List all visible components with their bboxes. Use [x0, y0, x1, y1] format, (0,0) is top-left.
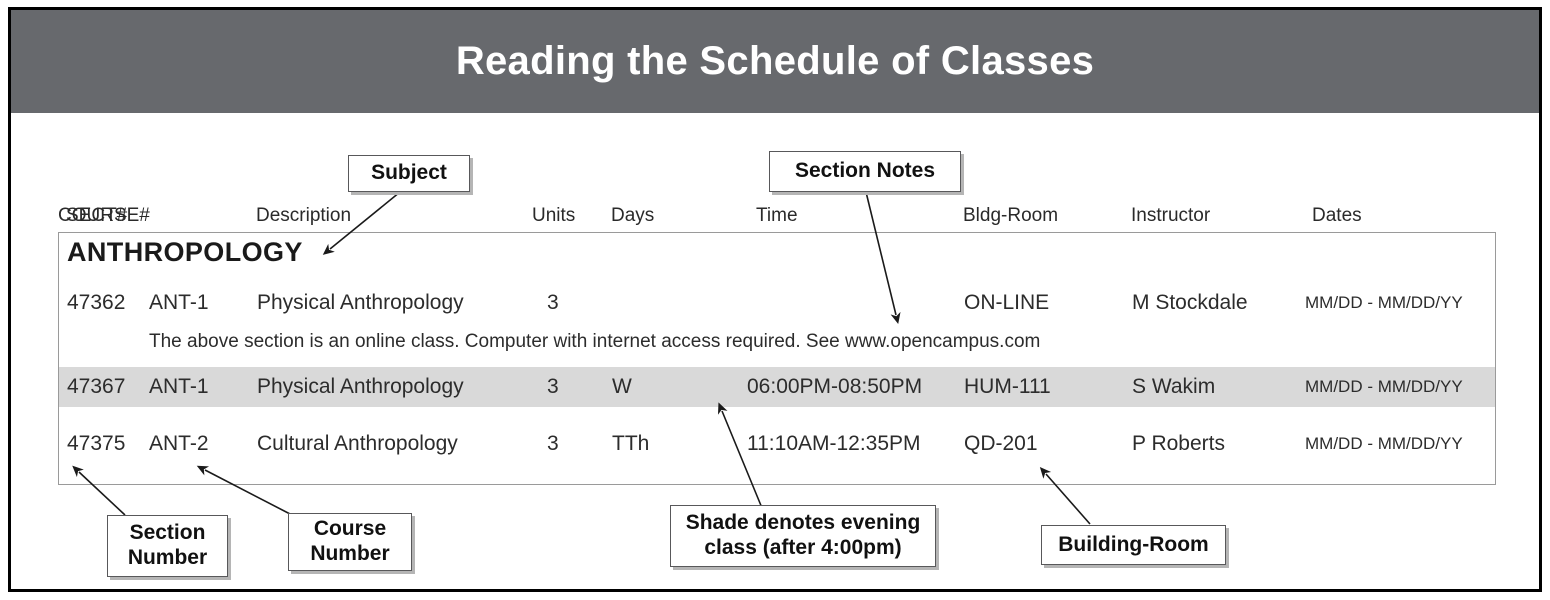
cell-dates: MM/DD - MM/DD/YY	[1305, 367, 1463, 407]
cell-days: TTh	[612, 424, 649, 464]
page-title: Reading the Schedule of Classes	[456, 39, 1094, 84]
schedule-infographic: Reading the Schedule of Classes SECT# CO…	[0, 0, 1550, 600]
schedule-table: ANTHROPOLOGY 47362 ANT-1 Physical Anthro…	[58, 232, 1496, 485]
subject-heading: ANTHROPOLOGY	[67, 237, 303, 268]
section-note-row: The above section is an online class. Co…	[59, 325, 1495, 359]
table-row: 47367 ANT-1 Physical Anthropology 3 W 06…	[59, 367, 1495, 407]
column-header-bldg-room: Bldg-Room	[963, 205, 1058, 227]
table-row: 47375 ANT-2 Cultural Anthropology 3 TTh …	[59, 424, 1495, 464]
cell-instructor: S Wakim	[1132, 367, 1215, 407]
cell-course: ANT-2	[149, 424, 209, 464]
column-header-course: COURSE#	[58, 205, 150, 227]
cell-units: 3	[547, 367, 559, 407]
cell-instructor: M Stockdale	[1132, 283, 1248, 323]
cell-course: ANT-1	[149, 283, 209, 323]
cell-time: 06:00PM-08:50PM	[747, 367, 922, 407]
cell-dates: MM/DD - MM/DD/YY	[1305, 424, 1463, 464]
callout-building-room: Building-Room	[1041, 525, 1226, 565]
table-row: 47362 ANT-1 Physical Anthropology 3 ON-L…	[59, 283, 1495, 323]
cell-bldg-room: ON-LINE	[964, 283, 1049, 323]
callout-section-notes: Section Notes	[769, 151, 961, 192]
column-header-dates: Dates	[1312, 205, 1362, 227]
cell-days: W	[612, 367, 632, 407]
cell-bldg-room: QD-201	[964, 424, 1038, 464]
column-header-description: Description	[256, 205, 351, 227]
column-header-units: Units	[532, 205, 575, 227]
callout-section-number: Section Number	[107, 515, 228, 577]
column-header-days: Days	[611, 205, 654, 227]
callout-shade-legend: Shade denotes evening class (after 4:00p…	[670, 505, 936, 567]
cell-description: Physical Anthropology	[257, 283, 464, 323]
callout-course-number: Course Number	[288, 513, 412, 571]
cell-units: 3	[547, 424, 559, 464]
cell-course: ANT-1	[149, 367, 209, 407]
column-header-row: SECT# COURSE# Description Units Days Tim…	[58, 205, 1498, 231]
section-note-text: The above section is an online class. Co…	[149, 325, 1040, 359]
cell-time: 11:10AM-12:35PM	[747, 424, 921, 464]
title-banner: Reading the Schedule of Classes	[11, 10, 1539, 113]
cell-description: Physical Anthropology	[257, 367, 464, 407]
cell-bldg-room: HUM-111	[964, 367, 1051, 407]
callout-subject: Subject	[348, 155, 470, 192]
cell-sect: 47375	[67, 424, 125, 464]
column-header-instructor: Instructor	[1131, 205, 1210, 227]
cell-dates: MM/DD - MM/DD/YY	[1305, 283, 1463, 323]
column-header-time: Time	[756, 205, 798, 227]
cell-description: Cultural Anthropology	[257, 424, 458, 464]
cell-units: 3	[547, 283, 559, 323]
cell-sect: 47362	[67, 283, 125, 323]
cell-sect: 47367	[67, 367, 125, 407]
cell-instructor: P Roberts	[1132, 424, 1225, 464]
